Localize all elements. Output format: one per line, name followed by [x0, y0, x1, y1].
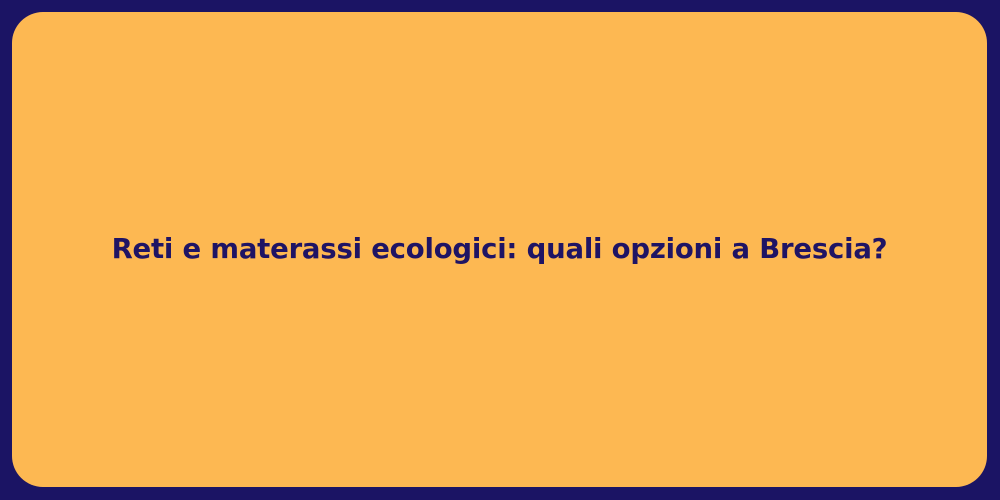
- orange-card-panel: Reti e materassi ecologici: quali opzion…: [12, 12, 987, 487]
- page-title: Reti e materassi ecologici: quali opzion…: [52, 231, 947, 268]
- card-frame: Reti e materassi ecologici: quali opzion…: [0, 0, 1000, 500]
- card-content: Reti e materassi ecologici: quali opzion…: [12, 231, 987, 268]
